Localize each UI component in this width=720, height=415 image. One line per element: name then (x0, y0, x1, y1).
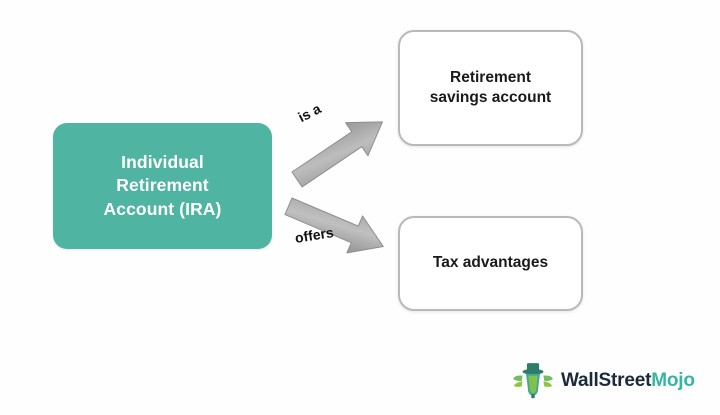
logo-wordmark: WallStreetMojo (561, 371, 695, 390)
wallstreetmojo-logo[interactable]: WallStreetMojo (512, 360, 695, 400)
wallstreetmojo-mark-icon (512, 360, 554, 400)
logo-word-one: WallStreet (561, 370, 651, 391)
node-retirement-savings-account[interactable]: Retirement savings account (398, 30, 583, 146)
node-individual-retirement-account[interactable]: Individual Retirement Account (IRA) (53, 123, 272, 249)
edge-label-is-a: is a (295, 100, 323, 125)
node-bottom-label: Tax advantages (433, 253, 548, 273)
node-top-label: Retirement savings account (430, 68, 551, 109)
node-primary-label: Individual Retirement Account (IRA) (104, 151, 222, 220)
edge-label-offers: offers (294, 224, 335, 246)
arrow-offers (281, 188, 391, 265)
node-tax-advantages[interactable]: Tax advantages (398, 216, 583, 311)
diagram-canvas: Individual Retirement Account (IRA) Reti… (0, 0, 720, 415)
logo-word-two: Mojo (651, 370, 695, 391)
